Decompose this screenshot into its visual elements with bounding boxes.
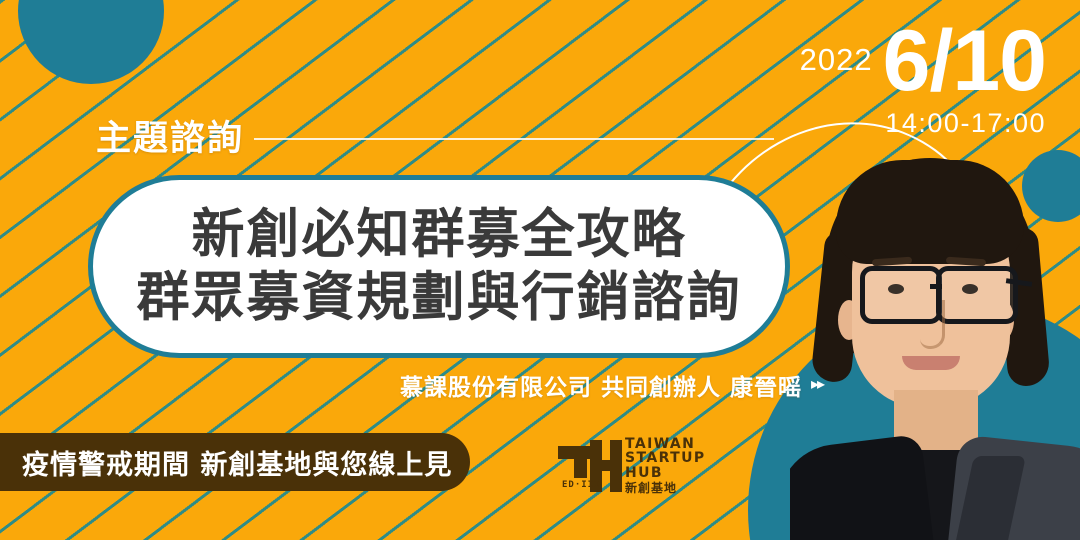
- speaker-portrait-photo: [790, 150, 1080, 540]
- taiwan-startup-hub-logo: ED·III TAIWAN STARTUP HUB 新創基地: [556, 434, 706, 496]
- event-date-block: 2022 6/10 14:00-17:00: [800, 24, 1046, 139]
- decorative-circle-top-left: [18, 0, 164, 84]
- logo-line-chinese: 新創基地: [625, 482, 706, 494]
- logo-line-hub: HUB: [625, 466, 706, 480]
- monogram-t-stem: [574, 446, 587, 478]
- title-card: 新創必知群募全攻略 群眾募資規劃與行銷諮詢: [88, 175, 790, 358]
- kicker-rule: [254, 138, 774, 140]
- double-arrow-icon: ▸▸: [811, 377, 823, 393]
- portrait-nose: [920, 300, 945, 349]
- portrait-glasses-lens-right: [936, 266, 1018, 324]
- title-line-1: 新創必知群募全攻略: [192, 205, 687, 265]
- speaker-name-text: 慕課股份有限公司 共同創辦人 康晉暚: [400, 368, 802, 402]
- monogram-subtext: ED·III: [562, 480, 601, 490]
- logo-line-taiwan: TAIWAN: [625, 437, 706, 451]
- portrait-glasses-bridge: [930, 284, 942, 289]
- bottom-notice-banner: 疫情警戒期間 新創基地與您線上見: [0, 433, 470, 491]
- bottom-notice-text: 疫情警戒期間 新創基地與您線上見: [22, 443, 452, 482]
- event-poster: 主題諮詢 2022 6/10 14:00-17:00 新創必知群募全攻略 群眾募…: [0, 0, 1080, 540]
- logo-wordmark: TAIWAN STARTUP HUB 新創基地: [625, 434, 706, 494]
- portrait-fringe: [836, 160, 1024, 264]
- date-time: 14:00-17:00: [800, 108, 1046, 139]
- monogram-h-crossbar: [590, 460, 622, 471]
- th-monogram-icon: ED·III: [556, 434, 618, 496]
- title-line-2: 群眾募資規劃與行銷諮詢: [137, 268, 742, 328]
- portrait-mouth: [902, 356, 960, 370]
- kicker-text: 主題諮詢: [96, 110, 244, 161]
- kicker-label: 主題諮詢: [96, 110, 774, 161]
- speaker-credit: 慕課股份有限公司 共同創辦人 康晉暚 ▸▸: [400, 368, 823, 402]
- logo-line-startup: STARTUP: [625, 451, 706, 465]
- date-year: 2022: [800, 42, 873, 100]
- date-day: 6/10: [883, 24, 1046, 100]
- date-row: 2022 6/10: [800, 24, 1046, 100]
